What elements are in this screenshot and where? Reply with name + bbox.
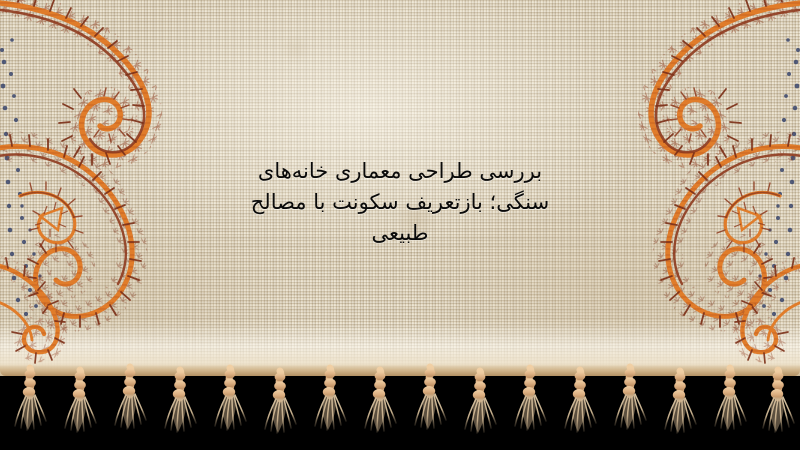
title-line-3: طبیعی bbox=[0, 218, 800, 249]
page-title: بررسی طراحی معماری خانه‌های سنگی؛ بازتعر… bbox=[0, 156, 800, 249]
textile-title-card: بررسی طراحی معماری خانه‌های سنگی؛ بازتعر… bbox=[0, 0, 800, 450]
tassel-fringe bbox=[0, 358, 800, 450]
title-line-1: بررسی طراحی معماری خانه‌های bbox=[0, 156, 800, 187]
tassel-row bbox=[15, 367, 794, 433]
title-line-2: سنگی؛ بازتعریف سکونت با مصالح bbox=[0, 187, 800, 218]
